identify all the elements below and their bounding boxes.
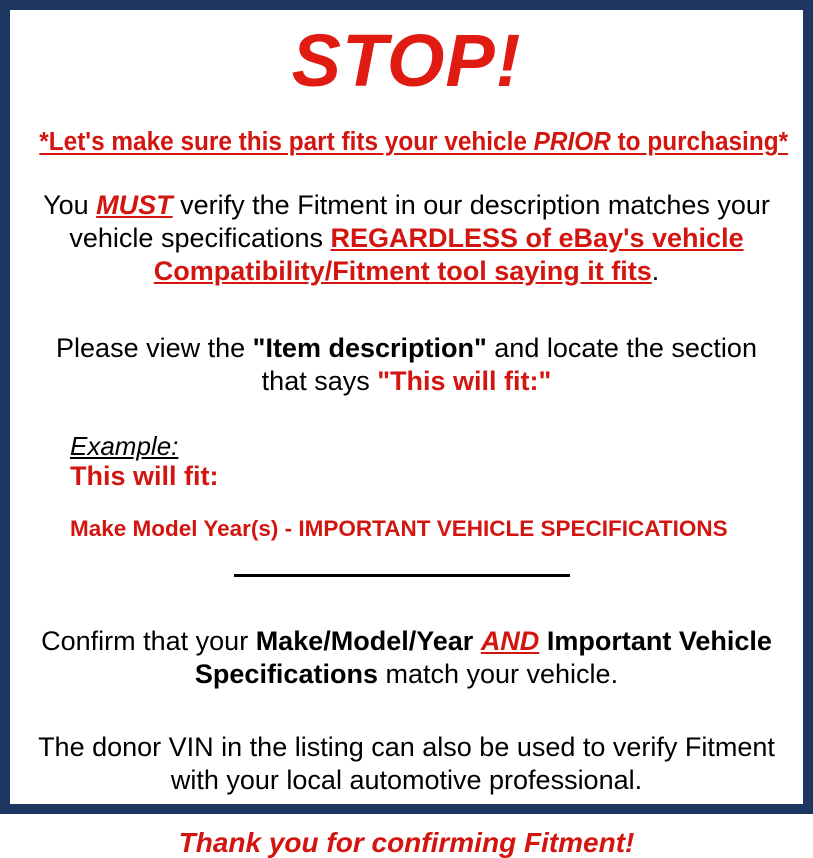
please-emphasis-item-description: "Item description" xyxy=(253,333,487,363)
confirm-text-4: match your vehicle. xyxy=(378,659,618,689)
paragraph-please-view: Please view the "Item description" and l… xyxy=(22,332,791,398)
subtitle-text-before: *Let's make sure this part fits your veh… xyxy=(39,128,533,156)
divider-wrapper xyxy=(22,568,791,582)
example-label: Example: xyxy=(70,432,178,461)
please-text-1: Please view the xyxy=(56,333,253,363)
must-emphasis-must: MUST xyxy=(96,190,173,220)
subtitle-text-after: to purchasing* xyxy=(611,128,788,156)
must-text-3: . xyxy=(652,256,660,286)
subtitle-emphasis-prior: PRIOR xyxy=(534,128,611,156)
subtitle-verify-fit: *Let's make sure this part fits your veh… xyxy=(39,128,773,156)
thank-you-line: Thank you for confirming Fitment! xyxy=(22,828,791,858)
must-text-1: You xyxy=(43,190,96,220)
paragraph-must-verify: You MUST verify the Fitment in our descr… xyxy=(22,189,791,288)
example-spec-line: Make Model Year(s) - IMPORTANT VEHICLE S… xyxy=(70,517,791,542)
page-title-stop: STOP! xyxy=(22,24,791,98)
example-label-row: Example: xyxy=(70,432,791,461)
confirm-text-3 xyxy=(539,626,547,656)
please-emphasis-this-will-fit: "This will fit:" xyxy=(377,366,551,396)
confirm-text-2 xyxy=(473,626,481,656)
horizontal-divider xyxy=(234,574,570,577)
example-this-will-fit: This will fit: xyxy=(70,462,791,491)
confirm-emphasis-and: AND xyxy=(481,626,540,656)
paragraph-donor-vin: The donor VIN in the listing can also be… xyxy=(22,731,791,797)
paragraph-confirm-match: Confirm that your Make/Model/Year AND Im… xyxy=(22,625,791,691)
fitment-notice-card: STOP! *Let's make sure this part fits yo… xyxy=(0,0,813,814)
confirm-emphasis-make-model-year: Make/Model/Year xyxy=(256,626,474,656)
example-block: Example: This will fit: Make Model Year(… xyxy=(22,432,791,542)
confirm-text-1: Confirm that your xyxy=(41,626,256,656)
